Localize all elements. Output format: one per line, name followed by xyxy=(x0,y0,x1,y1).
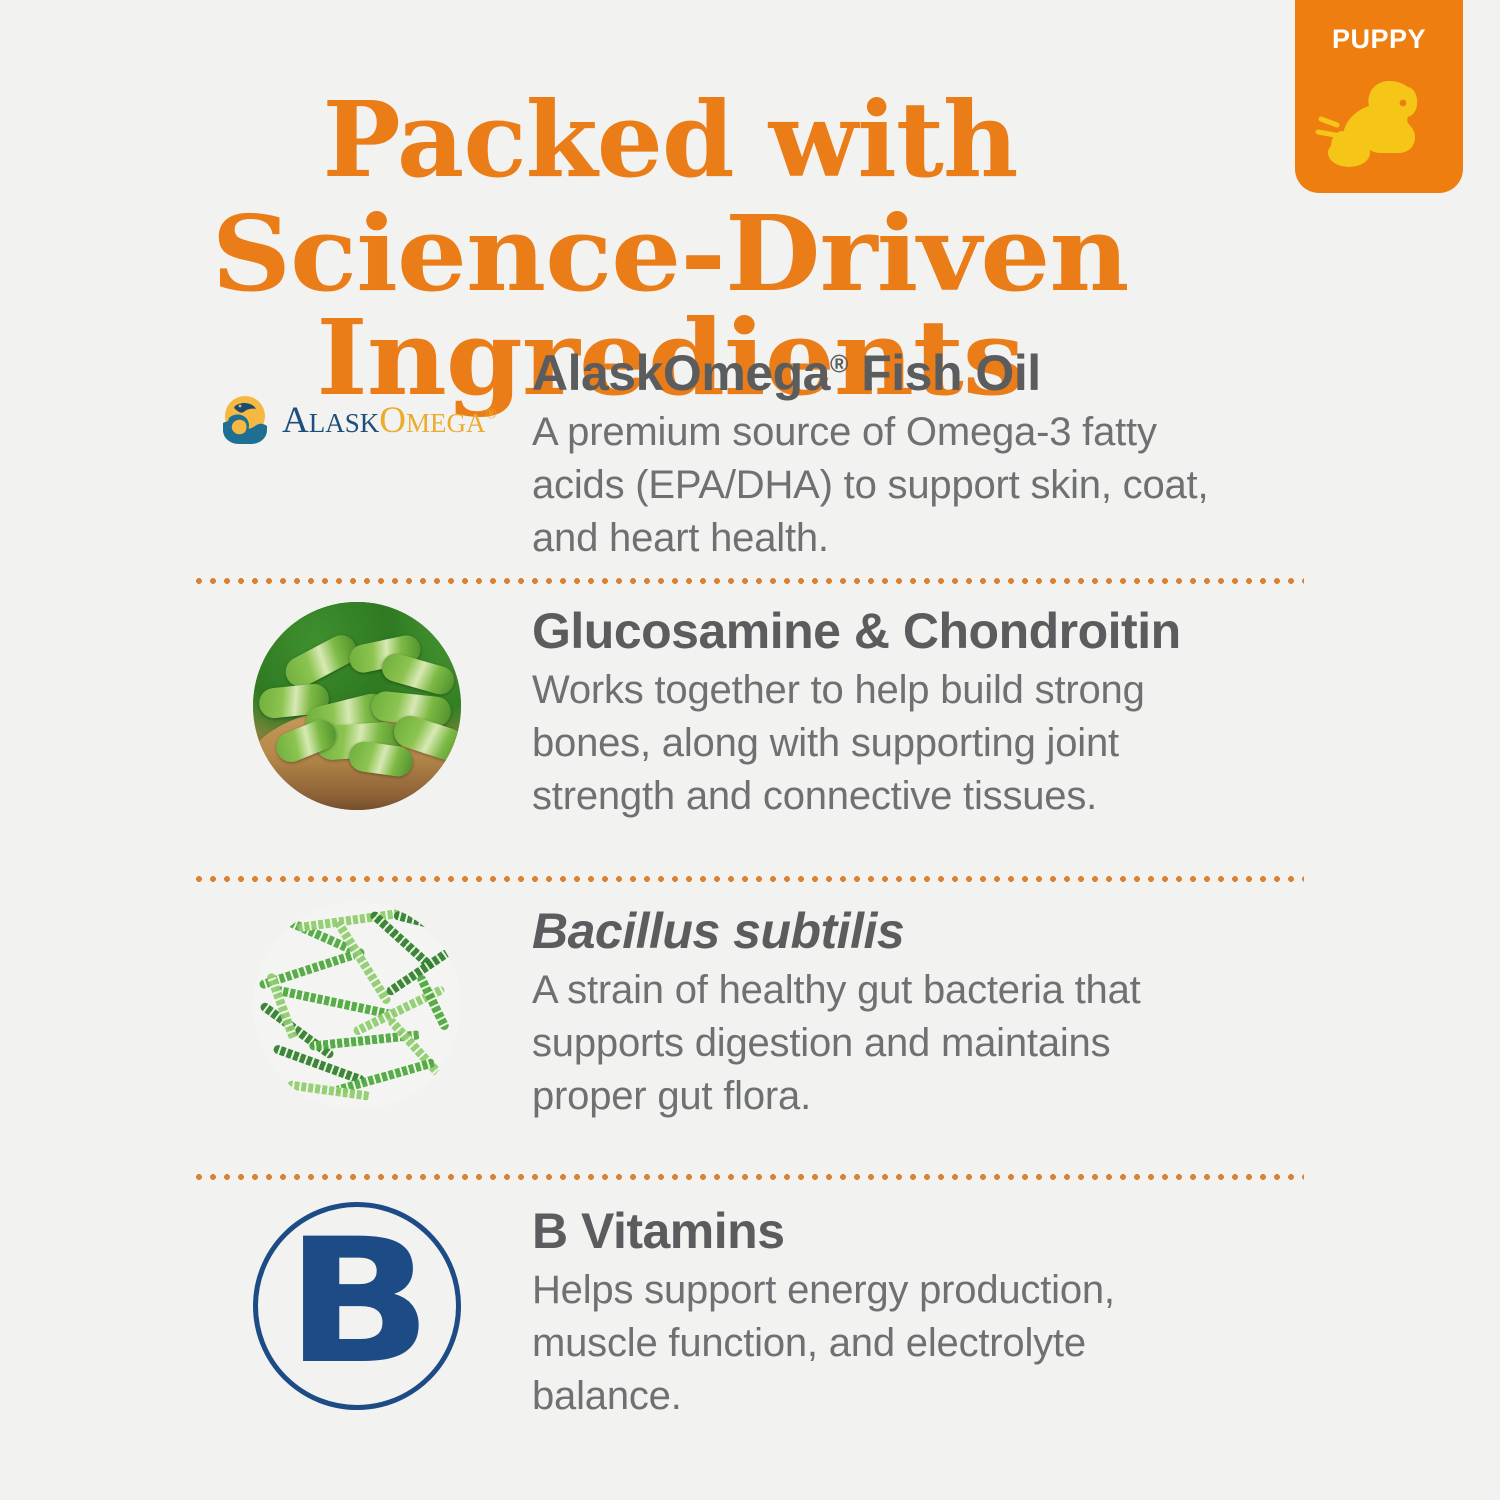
ingredient-media-bacillus xyxy=(192,902,522,1110)
bacteria-micrograph-photo xyxy=(253,902,461,1110)
ingredient-text-b-vitamins: B Vitamins Helps support energy producti… xyxy=(522,1202,1310,1422)
alaskomega-wordmark-alask-rest: LASK xyxy=(309,408,380,438)
ingredient-media-glucosamine xyxy=(192,602,522,810)
ingredient-title-bacillus: Bacillus subtilis xyxy=(532,904,1310,958)
page-title-line-1: Packed with xyxy=(0,88,1340,192)
ingredient-description-alaskomega: A premium source of Omega-3 fatty acids … xyxy=(532,406,1232,564)
ingredient-media-alaskomega: ALASKOMEGA® xyxy=(192,344,522,448)
ingredient-text-glucosamine: Glucosamine & Chondroitin Works together… xyxy=(522,602,1310,822)
infographic-page: PUPPY Packed with Science-Driven Ingredi… xyxy=(0,0,1500,1500)
alaskomega-logo: ALASKOMEGA® xyxy=(217,392,497,448)
b-vitamin-letter: B xyxy=(286,1235,428,1369)
ingredient-text-alaskomega: AlaskOmega® Fish Oil A premium source of… xyxy=(522,344,1310,564)
registered-mark-icon: ® xyxy=(830,350,848,378)
ingredient-description-b-vitamins: Helps support energy production, muscle … xyxy=(532,1264,1232,1422)
alaskomega-wordmark-omega: O xyxy=(379,400,406,441)
ingredient-title-suffix: Fish Oil xyxy=(848,345,1041,401)
ingredient-row-bacillus-subtilis: Bacillus subtilis A strain of healthy gu… xyxy=(0,882,1500,1174)
ingredient-row-glucosamine-chondroitin: Glucosamine & Chondroitin Works together… xyxy=(0,584,1500,876)
alaskomega-wordmark: ALASKOMEGA® xyxy=(282,402,497,439)
ingredient-title-alaskomega: AlaskOmega® Fish Oil xyxy=(532,346,1310,400)
ingredient-text-bacillus: Bacillus subtilis A strain of healthy gu… xyxy=(522,902,1310,1122)
alaskomega-wordmark-omega-rest: MEGA xyxy=(406,408,486,438)
ingredient-description-bacillus: A strain of healthy gut bacteria that su… xyxy=(532,964,1232,1122)
ingredient-title-text: AlaskOmega xyxy=(532,345,830,401)
ingredient-title-b-vitamins: B Vitamins xyxy=(532,1204,1310,1258)
alaskomega-wordmark-registered: ® xyxy=(486,406,497,422)
ingredient-row-b-vitamins: B B Vitamins Helps support energy produc… xyxy=(0,1180,1500,1440)
alaskomega-wordmark-alask: A xyxy=(282,400,309,441)
ingredient-row-alaskomega-fish-oil: ALASKOMEGA® AlaskOmega® Fish Oil A premi… xyxy=(0,330,1500,578)
green-capsules-photo xyxy=(253,602,461,810)
ingredient-list: ALASKOMEGA® AlaskOmega® Fish Oil A premi… xyxy=(0,330,1500,1440)
alaskomega-mark-icon xyxy=(217,392,273,448)
puppy-badge-label: PUPPY xyxy=(1332,26,1426,53)
ingredient-media-b-vitamins: B xyxy=(192,1202,522,1410)
ingredient-description-glucosamine: Works together to help build strong bone… xyxy=(532,664,1232,822)
b-vitamin-icon: B xyxy=(253,1202,461,1410)
ingredient-title-glucosamine: Glucosamine & Chondroitin xyxy=(532,604,1310,658)
